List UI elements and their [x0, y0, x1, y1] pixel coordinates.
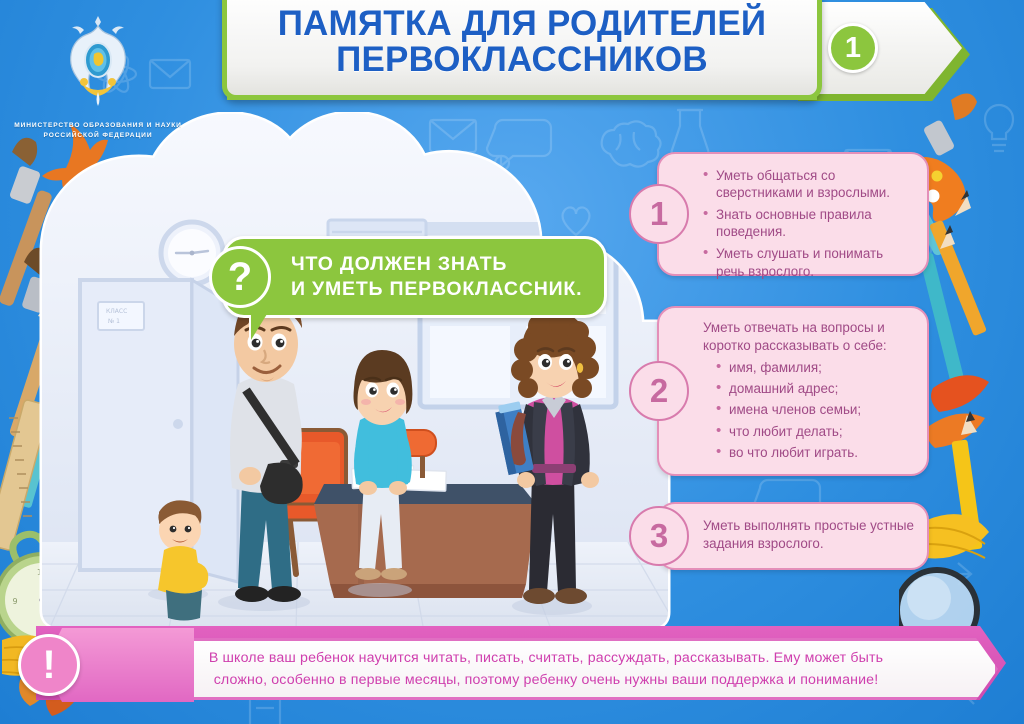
page-title-line-1: ПАМЯТКА ДЛЯ РОДИТЕЛЕЙ	[278, 4, 767, 43]
ministry-line-1: МИНИСТЕРСТВО ОБРАЗОВАНИЯ И НАУКИ	[8, 121, 188, 131]
banner-line-1: В школе ваш ребенок научится читать, пис…	[209, 647, 883, 669]
question-mark-icon: ?	[209, 246, 271, 308]
info-box-3-body: Уметь выполнять простые устные задания в…	[703, 504, 927, 566]
poster-root: 12369	[0, 0, 1024, 724]
list-item: Уметь слушать и понимать речь взрослого.	[703, 245, 915, 281]
list-item: Знать основные правила поведения.	[703, 206, 915, 242]
classroom-scene-illustration: КЛАСС№ 1	[28, 112, 688, 632]
banner-text: В школе ваш ребенок научится читать, пис…	[191, 647, 913, 691]
question-line-2: И УМЕТЬ ПЕРВОКЛАССНИК.	[291, 277, 582, 302]
list-item: домашний адрес;	[703, 380, 915, 398]
info-box-1: 1 Уметь общаться со сверстниками и взрос…	[657, 152, 929, 276]
svg-text:№ 1: № 1	[108, 318, 120, 325]
info-box-2-body: Уметь отвечать на вопросы и коротко расс…	[703, 308, 927, 474]
ministry-emblem-block: МИНИСТЕРСТВО ОБРАЗОВАНИЯ И НАУКИ РОССИЙС…	[8, 12, 188, 141]
info-box-3-number: 3	[629, 506, 689, 566]
question-speech-bubble: ? ЧТО ДОЛЖЕН ЗНАТЬ И УМЕТЬ ПЕРВОКЛАССНИК…	[222, 236, 607, 318]
list-item: что любит делать;	[703, 423, 915, 441]
info-box-1-number: 1	[629, 184, 689, 244]
list-item: имя, фамилия;	[703, 359, 915, 377]
list-item: во что любит играть.	[703, 444, 915, 462]
banner-line-2: сложно, особенно в первые месяцы, поэтом…	[209, 669, 883, 691]
page-title-line-2: ПЕРВОКЛАССНИКОВ	[278, 42, 767, 78]
question-line-1: ЧТО ДОЛЖЕН ЗНАТЬ	[291, 252, 582, 277]
exclamation-badge-icon: !	[18, 634, 80, 696]
info-box-2-list: имя, фамилия; домашний адрес; имена член…	[703, 359, 915, 462]
bottom-banner: В школе ваш ребенок научится читать, пис…	[18, 626, 1006, 712]
info-box-1-body: Уметь общаться со сверстниками и взрослы…	[703, 154, 927, 293]
russian-federation-emblem-icon	[54, 12, 142, 112]
info-box-2-number: 2	[629, 361, 689, 421]
banner-frame: В школе ваш ребенок научится читать, пис…	[106, 638, 998, 700]
svg-text:КЛАСС: КЛАСС	[106, 308, 127, 315]
info-box-1-list: Уметь общаться со сверстниками и взрослы…	[703, 167, 915, 281]
list-item: имена членов семьи;	[703, 401, 915, 419]
info-box-2-lead: Уметь отвечать на вопросы и коротко расс…	[703, 319, 915, 355]
list-item: Уметь общаться со сверстниками и взрослы…	[703, 167, 915, 203]
info-box-3-text: Уметь выполнять простые устные задания в…	[703, 517, 915, 553]
poster-title-plate: ПАМЯТКА ДЛЯ РОДИТЕЛЕЙ ПЕРВОКЛАССНИКОВ	[222, 0, 822, 100]
ministry-line-2: РОССИЙСКОЙ ФЕДЕРАЦИИ	[8, 131, 188, 141]
page-title: ПАМЯТКА ДЛЯ РОДИТЕЛЕЙ ПЕРВОКЛАССНИКОВ	[262, 2, 783, 85]
info-box-2: 2 Уметь отвечать на вопросы и коротко ра…	[657, 306, 929, 476]
info-box-3: 3 Уметь выполнять простые устные задания…	[657, 502, 929, 570]
question-bubble-text: ЧТО ДОЛЖЕН ЗНАТЬ И УМЕТЬ ПЕРВОКЛАССНИК.	[291, 252, 582, 302]
page-number-badge: 1	[828, 23, 878, 73]
